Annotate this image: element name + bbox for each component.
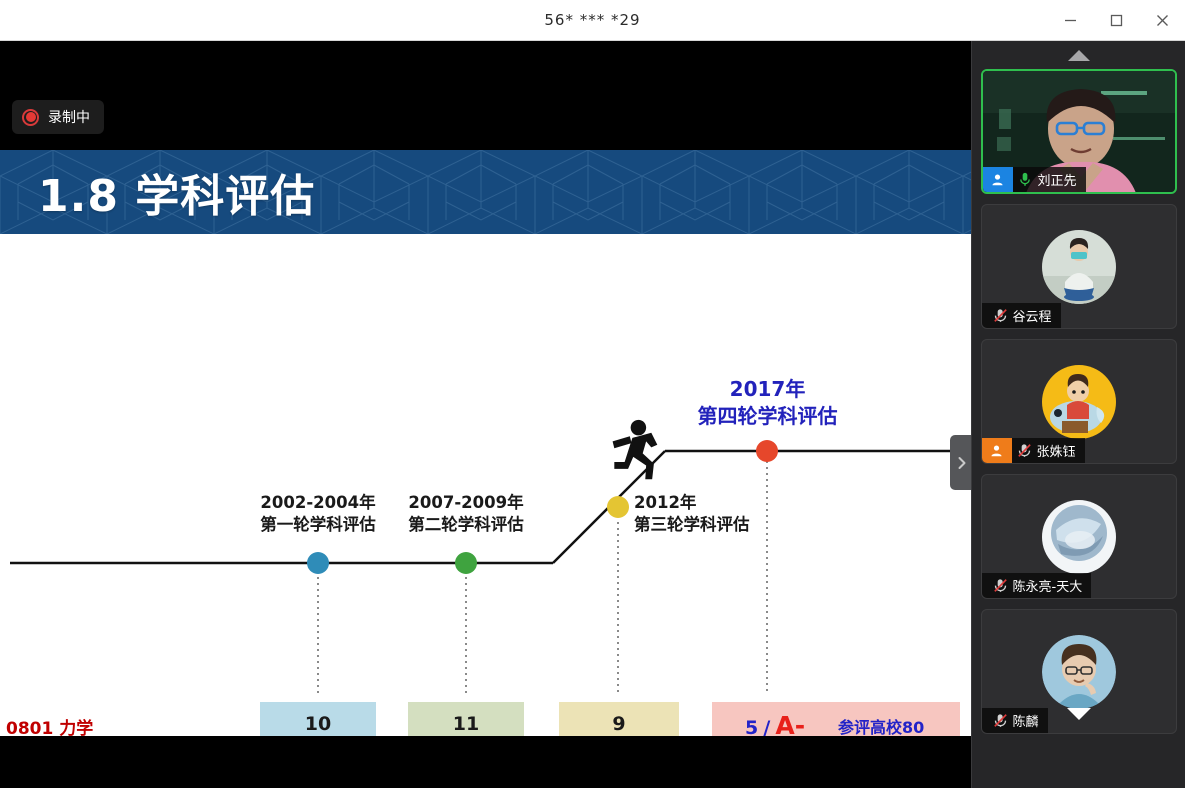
participant-name-2: 张姝钰 bbox=[1037, 441, 1076, 460]
timeline-graphic bbox=[0, 234, 971, 736]
microphone-muted-icon-4 bbox=[988, 713, 1013, 728]
slide-header: 1.8 学科评估 bbox=[0, 150, 971, 234]
participant-tile-2[interactable]: 张姝钰 bbox=[981, 339, 1177, 464]
table-cell-r0-note: 参评高校80 bbox=[838, 714, 924, 736]
record-dot-icon bbox=[22, 109, 39, 126]
participant-nameplate-4: 陈麟 bbox=[982, 708, 1048, 733]
participant-nameplate-3: 陈永亮-天大 bbox=[982, 573, 1092, 598]
timeline-year-round-1: 2002-2004年 bbox=[240, 492, 396, 514]
timeline-caption-round-3: 2012年 第三轮学科评估 bbox=[634, 492, 750, 537]
collapse-panel-button[interactable] bbox=[950, 435, 971, 490]
slide-title: 1.8 学科评估 bbox=[38, 160, 315, 224]
slide-body: 2002-2004年 第一轮学科评估 2007-2009年 第二轮学科评估 20… bbox=[0, 234, 971, 736]
timeline-caption-round-4: 2017年 第四轮学科评估 bbox=[645, 376, 890, 430]
host-badge-icon-2 bbox=[982, 438, 1012, 463]
window-controls bbox=[1047, 0, 1185, 41]
timeline-caption-round-2: 2007-2009年 第二轮学科评估 bbox=[388, 492, 544, 537]
participant-name-1: 谷云程 bbox=[1013, 306, 1052, 325]
timeline-dot-round-4 bbox=[756, 440, 778, 462]
title-bar: 56* *** *29 bbox=[0, 0, 1185, 41]
participants-panel: 刘正先 bbox=[971, 41, 1185, 788]
recording-label: 录制中 bbox=[48, 107, 90, 127]
table-cell-r0-c1: 10 bbox=[260, 713, 376, 735]
table-cell-r0-c2: 11 bbox=[408, 713, 524, 735]
microphone-muted-icon-2 bbox=[1012, 443, 1037, 458]
window-title: 56* *** *29 bbox=[544, 11, 640, 29]
microphone-muted-icon-3 bbox=[988, 578, 1013, 593]
avatar-4 bbox=[1042, 635, 1116, 709]
timeline-year-round-4: 2017年 bbox=[645, 376, 890, 403]
timeline-round-round-4: 第四轮学科评估 bbox=[645, 403, 890, 430]
avatar-3 bbox=[1042, 500, 1116, 574]
timeline-dot-round-1 bbox=[307, 552, 329, 574]
participant-tile-3[interactable]: 陈永亮-天大 bbox=[981, 474, 1177, 599]
participant-tile-1[interactable]: 谷云程 bbox=[981, 204, 1177, 329]
participant-name-4: 陈麟 bbox=[1013, 711, 1039, 730]
scroll-down-button[interactable] bbox=[1066, 707, 1092, 726]
participant-tile-0[interactable]: 刘正先 bbox=[981, 69, 1177, 194]
grade-letter-r0: A- bbox=[775, 711, 805, 736]
triangle-down-icon bbox=[1066, 707, 1092, 721]
participant-nameplate-1: 谷云程 bbox=[982, 303, 1061, 328]
participant-nameplate-0: 刘正先 bbox=[983, 167, 1086, 192]
presentation-slide: 1.8 学科评估 bbox=[0, 150, 971, 736]
timeline-caption-round-1: 2002-2004年 第一轮学科评估 bbox=[240, 492, 396, 537]
app-window: 56* *** *29 录制中 bbox=[0, 0, 1185, 788]
avatar-1 bbox=[1042, 230, 1116, 304]
grade-separator-r0: / bbox=[763, 717, 770, 736]
host-badge-icon-0 bbox=[983, 167, 1013, 192]
participant-name-3: 陈永亮-天大 bbox=[1013, 576, 1083, 595]
timeline-year-round-2: 2007-2009年 bbox=[388, 492, 544, 514]
timeline-year-round-3: 2012年 bbox=[634, 492, 750, 514]
timeline-dot-round-2 bbox=[455, 552, 477, 574]
timeline-round-round-2: 第二轮学科评估 bbox=[388, 514, 544, 536]
close-button[interactable] bbox=[1139, 0, 1185, 41]
shared-screen-area: 录制中 bbox=[0, 41, 971, 788]
table-row-label-0: 0801 力学 bbox=[6, 714, 93, 736]
table-cell-r0-grade: 5 / A- bbox=[745, 711, 805, 736]
chevron-right-icon bbox=[956, 455, 968, 471]
maximize-button[interactable] bbox=[1093, 0, 1139, 41]
minimize-button[interactable] bbox=[1047, 0, 1093, 41]
avatar-2 bbox=[1042, 365, 1116, 439]
timeline-round-round-1: 第一轮学科评估 bbox=[240, 514, 396, 536]
recording-badge: 录制中 bbox=[12, 100, 104, 134]
participant-nameplate-2: 张姝钰 bbox=[982, 438, 1085, 463]
table-cell-r0-c3: 9 bbox=[559, 713, 679, 735]
timeline-dot-round-3 bbox=[607, 496, 629, 518]
scroll-up-button[interactable] bbox=[972, 41, 1185, 69]
participant-name-0: 刘正先 bbox=[1038, 170, 1077, 189]
microphone-on-icon-0 bbox=[1013, 172, 1038, 187]
timeline-round-round-3: 第三轮学科评估 bbox=[634, 514, 750, 536]
triangle-up-icon bbox=[1067, 49, 1091, 62]
microphone-muted-icon-1 bbox=[988, 308, 1013, 323]
grade-rank-r0: 5 bbox=[745, 717, 758, 736]
